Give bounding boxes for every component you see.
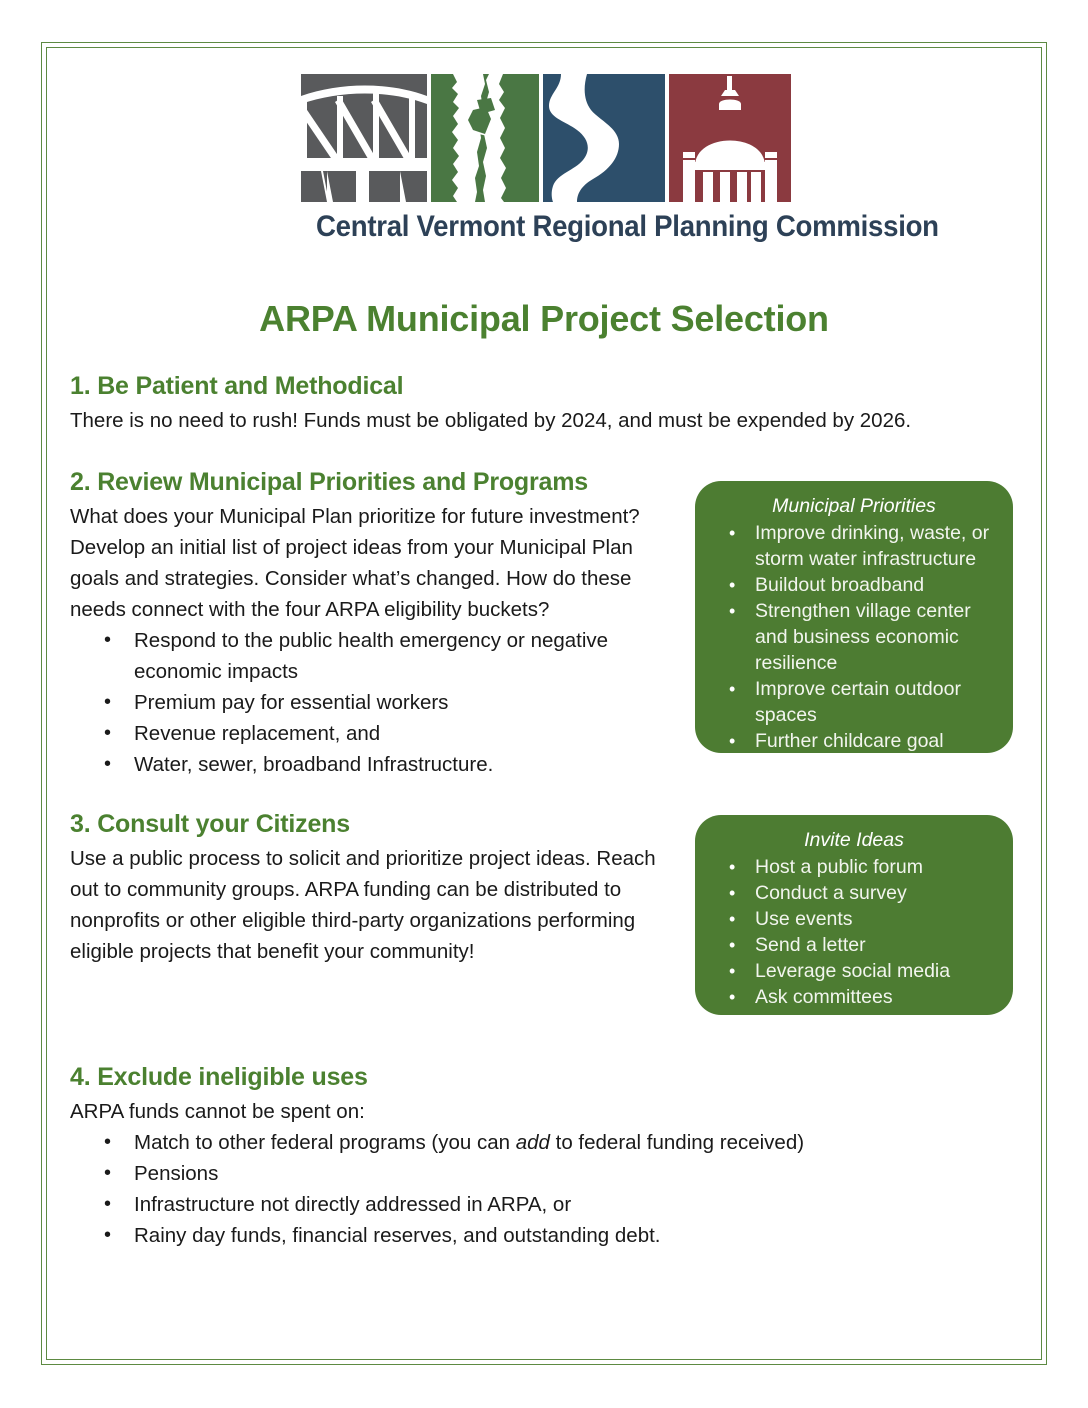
list-item: Revenue replacement, and <box>70 718 670 749</box>
callout-list: Host a public forum Conduct a survey Use… <box>709 854 999 1010</box>
list-item: Pensions <box>70 1158 970 1189</box>
section-1-paragraph: There is no need to rush! Funds must be … <box>70 405 970 436</box>
state-house-dome-icon <box>669 74 791 202</box>
list-item: Strengthen village center and business e… <box>709 598 999 676</box>
logo-panel-row <box>296 74 796 202</box>
list-item: Use events <box>709 906 999 932</box>
page-title: ARPA Municipal Project Selection <box>0 298 1088 340</box>
section-review-municipal-priorities-and-programs: 2. Review Municipal Priorities and Progr… <box>70 468 670 780</box>
section-exclude-ineligible-uses: 4. Exclude ineligible uses ARPA funds ca… <box>70 1063 970 1251</box>
list-item: Ask committees <box>709 984 999 1010</box>
list-item: Respond to the public health emergency o… <box>70 625 670 687</box>
list-item: Further childcare goal <box>709 728 999 754</box>
list-item: Rainy day funds, financial reserves, and… <box>70 1220 970 1251</box>
rich-text-italic: add <box>516 1131 550 1154</box>
section-2-bullet-list: Respond to the public health emergency o… <box>70 625 670 780</box>
section-1-heading: 1. Be Patient and Methodical <box>70 372 970 401</box>
section-2-heading: 2. Review Municipal Priorities and Progr… <box>70 468 670 497</box>
list-item: Host a public forum <box>709 854 999 880</box>
list-item: Infrastructure not directly addressed in… <box>70 1189 970 1220</box>
list-item: Improve drinking, waste, or storm water … <box>709 520 999 572</box>
logo-wordmark: Central Vermont Regional Planning Commis… <box>316 210 776 244</box>
list-item: Leverage social media <box>709 958 999 984</box>
callout-invite-ideas: Invite Ideas Host a public forum Conduct… <box>695 815 1013 1015</box>
rich-text-after: to federal funding received) <box>550 1131 804 1154</box>
rich-text-before: Match to other federal programs (you can <box>134 1131 516 1154</box>
callout-title: Municipal Priorities <box>709 493 999 519</box>
section-4-bullet-list: Match to other federal programs (you can… <box>70 1127 970 1251</box>
list-item: Premium pay for essential workers <box>70 687 670 718</box>
winooski-river-icon <box>543 74 665 202</box>
section-3-paragraph: Use a public process to solicit and prio… <box>70 843 670 967</box>
list-item: Conduct a survey <box>709 880 999 906</box>
callout-list: Improve drinking, waste, or storm water … <box>709 520 999 754</box>
list-item: Buildout broadband <box>709 572 999 598</box>
covered-bridge-icon <box>301 74 427 202</box>
section-4-paragraph: ARPA funds cannot be spent on: <box>70 1096 970 1127</box>
section-4-heading: 4. Exclude ineligible uses <box>70 1063 970 1092</box>
document-page: Central Vermont Regional Planning Commis… <box>0 0 1088 1408</box>
cvrpc-logo: Central Vermont Regional Planning Commis… <box>296 74 796 244</box>
vermont-map-icon <box>431 74 539 202</box>
list-item: Improve certain outdoor spaces <box>709 676 999 728</box>
callout-municipal-priorities: Municipal Priorities Improve drinking, w… <box>695 481 1013 753</box>
callout-title: Invite Ideas <box>709 827 999 853</box>
section-2-paragraph: What does your Municipal Plan prioritize… <box>70 501 670 625</box>
list-item-rich: Match to other federal programs (you can… <box>70 1127 970 1158</box>
list-item: Water, sewer, broadband Infrastructure. <box>70 749 670 780</box>
section-consult-your-citizens: 3. Consult your Citizens Use a public pr… <box>70 810 670 967</box>
section-3-heading: 3. Consult your Citizens <box>70 810 670 839</box>
list-item: Send a letter <box>709 932 999 958</box>
section-be-patient-and-methodical: 1. Be Patient and Methodical There is no… <box>70 372 970 436</box>
